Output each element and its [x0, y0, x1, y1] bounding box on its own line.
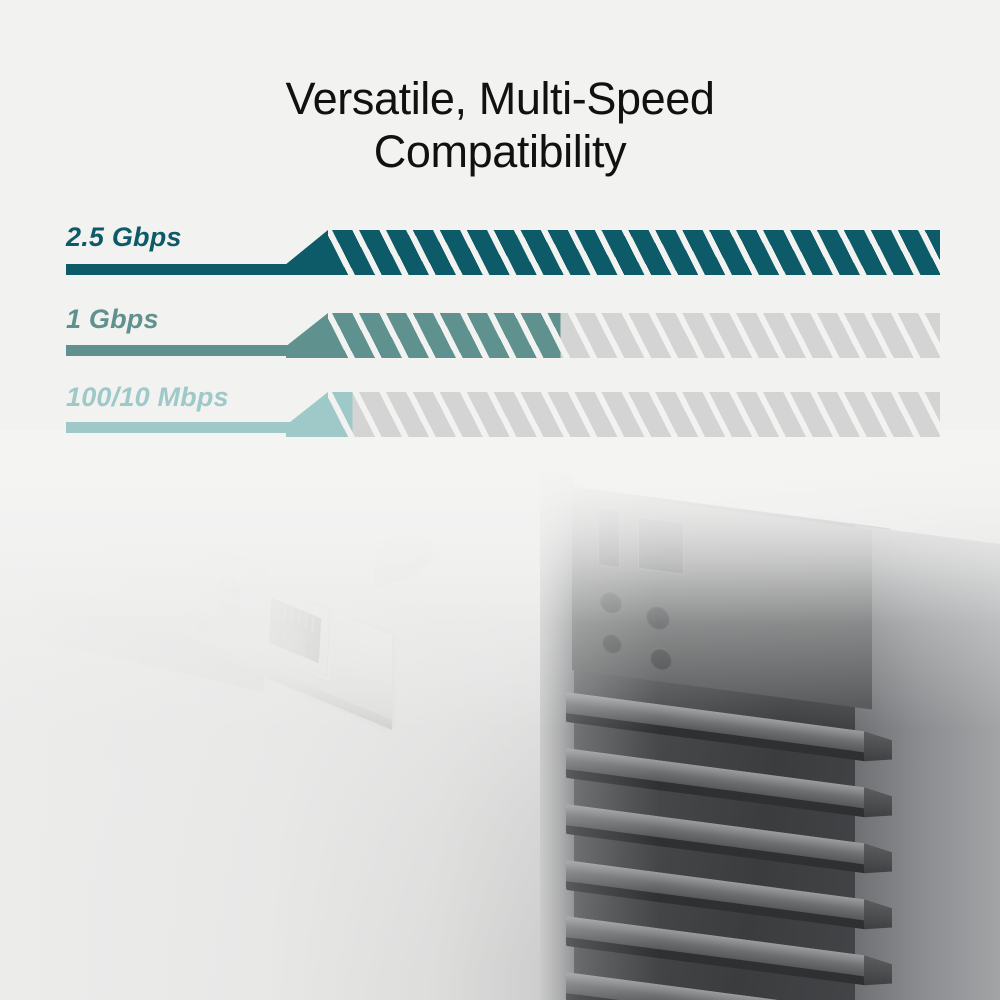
speed-underline-100-10-mbps — [66, 422, 292, 433]
page-title: Versatile, Multi-Speed Compatibility — [0, 72, 1000, 178]
speed-label-100-10-mbps: 100/10 Mbps — [66, 382, 229, 413]
speed-stripe-gaps — [328, 392, 940, 437]
speed-stripes-100-10-mbps — [328, 392, 940, 437]
speed-stripe-gaps — [328, 313, 940, 358]
headline-line-2: Compatibility — [0, 125, 1000, 178]
speed-underline-2-5-gbps — [66, 264, 292, 275]
speed-ramp-2-5-gbps — [286, 230, 328, 275]
speed-label-2-5-gbps: 2.5 Gbps — [66, 222, 182, 253]
speed-stripes-1-gbps — [328, 313, 940, 358]
headline-line-1: Versatile, Multi-Speed — [0, 72, 1000, 125]
speed-stripes-2-5-gbps — [328, 230, 940, 275]
speed-label-1-gbps: 1 Gbps — [66, 304, 159, 335]
speed-ramp-100-10-mbps — [286, 392, 328, 437]
speed-stripe-gaps — [328, 230, 940, 275]
speed-comparison-chart: 2.5 Gbps 1 Gbps 100/10 Mbps — [0, 218, 1000, 453]
product-photo: 2.5 Gbps TX-3T Link/ — [0, 430, 1000, 1000]
speed-ramp-1-gbps — [286, 313, 328, 358]
product-marketing-banner: 2.5 Gbps TX-3T Link/ — [0, 0, 1000, 1000]
speed-underline-1-gbps — [66, 345, 292, 356]
photo-wash — [0, 430, 1000, 1000]
